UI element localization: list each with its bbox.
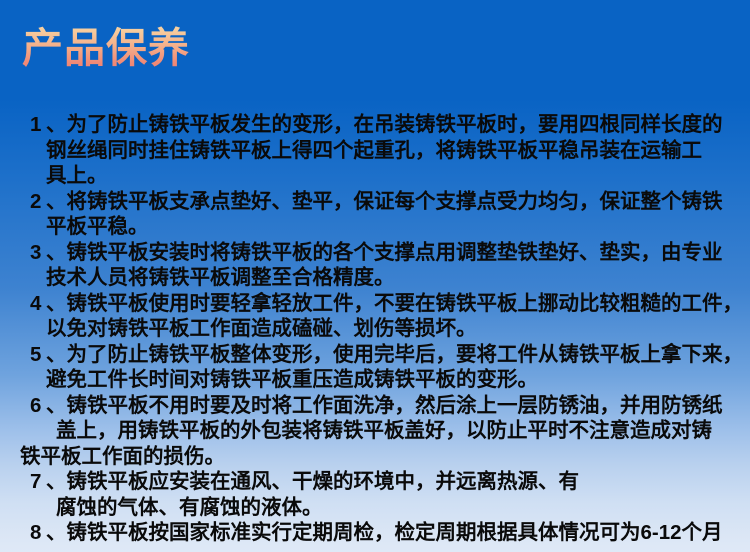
list-item-number: 3 xyxy=(30,240,46,266)
list-item-text: 铸铁平板使用时要轻拿轻放工件，不要在铸铁平板上挪动比较粗糙的工件， xyxy=(67,292,744,315)
list-item: 5、为了防止铸铁平板整体变形，使用完毕后，要将工件从铸铁平板上拿下来，避免工件长… xyxy=(0,342,750,393)
list-item-text: 技术人员将铸铁平板调整至合格精度。 xyxy=(46,266,395,289)
list-item-wrap-line: 平板平稳。 xyxy=(0,214,750,240)
list-item-number: 2 xyxy=(30,189,46,215)
list-item-text: 铸铁平板安装时将铸铁平板的各个支撑点用调整垫铁垫好、垫实，由专业 xyxy=(67,241,723,264)
list-item-wrap-line: 钢丝绳同时挂住铸铁平板上得四个起重孔，将铸铁平板平稳吊装在运输工 xyxy=(0,138,750,164)
list-item-first-line: 5、为了防止铸铁平板整体变形，使用完毕后，要将工件从铸铁平板上拿下来， xyxy=(0,342,750,368)
list-item-number: 5 xyxy=(30,342,46,368)
list-item-wrap-line: 铁平板工作面的损伤。 xyxy=(0,444,750,470)
list-item-number: 7 xyxy=(30,469,46,495)
list-item: 2、将铸铁平板支承点垫好、垫平，保证每个支撑点受力均匀，保证整个铸铁平板平稳。 xyxy=(0,189,750,240)
list-item: 8、铸铁平板按国家标准实行定期周检，检定周期根据具体情况可为6-12个月 xyxy=(0,520,750,546)
list-item-text: 铸铁平板应安装在通风、干燥的环境中，并远离热源、有 xyxy=(67,470,580,493)
list-item-number: 1 xyxy=(30,112,46,138)
list-item-text: 铸铁平板按国家标准实行定期周检，检定周期根据具体情况可为6-12个月 xyxy=(67,521,723,544)
list-item: 7、铸铁平板应安装在通风、干燥的环境中，并远离热源、有腐蚀的气体、有腐蚀的液体。 xyxy=(0,469,750,520)
list-item-number-separator: 、 xyxy=(46,112,67,138)
list-item-wrap-line: 盖上，用铸铁平板的外包装将铸铁平板盖好，以防止平时不注意造成对铸 xyxy=(0,418,750,444)
list-item-text: 铁平板工作面的损伤。 xyxy=(20,445,225,468)
page-title: 产品保养 xyxy=(22,22,190,74)
list-item-number-separator: 、 xyxy=(46,240,67,266)
list-item-wrap-line: 腐蚀的气体、有腐蚀的液体。 xyxy=(0,495,750,521)
list-item-text: 腐蚀的气体、有腐蚀的液体。 xyxy=(56,496,323,519)
list-item-number: 4 xyxy=(30,291,46,317)
list-item-text: 平板平稳。 xyxy=(46,215,149,238)
list-item-number-separator: 、 xyxy=(46,469,67,495)
list-item-number: 8 xyxy=(30,520,46,546)
list-item-text: 将铸铁平板支承点垫好、垫平，保证每个支撑点受力均匀，保证整个铸铁 xyxy=(67,190,723,213)
list-item-wrap-line: 技术人员将铸铁平板调整至合格精度。 xyxy=(0,265,750,291)
list-item-first-line: 6、铸铁平板不用时要及时将工作面洗净，然后涂上一层防锈油，并用防锈纸 xyxy=(0,393,750,419)
list-item-number-separator: 、 xyxy=(46,393,67,419)
list-item-number-separator: 、 xyxy=(46,291,67,317)
list-item-first-line: 7、铸铁平板应安装在通风、干燥的环境中，并远离热源、有 xyxy=(0,469,750,495)
list-item-text: 具上。 xyxy=(46,164,108,187)
list-item-number: 6 xyxy=(30,393,46,419)
list-item-wrap-line: 以免对铸铁平板工作面造成磕碰、划伤等损坏。 xyxy=(0,316,750,342)
list-item-wrap-line: 避免工件长时间对铸铁平板重压造成铸铁平板的变形。 xyxy=(0,367,750,393)
list-item-text: 为了防止铸铁平板发生的变形，在吊装铸铁平板时，要用四根同样长度的 xyxy=(67,113,723,136)
list-item-wrap-line: 具上。 xyxy=(0,163,750,189)
slide-canvas: 产品保养 1、为了防止铸铁平板发生的变形，在吊装铸铁平板时，要用四根同样长度的钢… xyxy=(0,0,750,552)
list-item-text: 避免工件长时间对铸铁平板重压造成铸铁平板的变形。 xyxy=(46,368,538,391)
list-item-first-line: 8、铸铁平板按国家标准实行定期周检，检定周期根据具体情况可为6-12个月 xyxy=(0,520,750,546)
list-item-first-line: 4、铸铁平板使用时要轻拿轻放工件，不要在铸铁平板上挪动比较粗糙的工件， xyxy=(0,291,750,317)
title-area: 产品保养 xyxy=(0,0,750,100)
list-item-number-separator: 、 xyxy=(46,342,67,368)
list-item-first-line: 2、将铸铁平板支承点垫好、垫平，保证每个支撑点受力均匀，保证整个铸铁 xyxy=(0,189,750,215)
list-item-first-line: 3、铸铁平板安装时将铸铁平板的各个支撑点用调整垫铁垫好、垫实，由专业 xyxy=(0,240,750,266)
list-item: 6、铸铁平板不用时要及时将工作面洗净，然后涂上一层防锈油，并用防锈纸盖上，用铸铁… xyxy=(0,393,750,470)
list-item-text: 盖上，用铸铁平板的外包装将铸铁平板盖好，以防止平时不注意造成对铸 xyxy=(56,419,712,442)
maintenance-list: 1、为了防止铸铁平板发生的变形，在吊装铸铁平板时，要用四根同样长度的钢丝绳同时挂… xyxy=(0,112,750,546)
list-item-text: 铸铁平板不用时要及时将工作面洗净，然后涂上一层防锈油，并用防锈纸 xyxy=(67,394,723,417)
list-item-text: 钢丝绳同时挂住铸铁平板上得四个起重孔，将铸铁平板平稳吊装在运输工 xyxy=(46,139,702,162)
list-item-number-separator: 、 xyxy=(46,189,67,215)
list-item: 3、铸铁平板安装时将铸铁平板的各个支撑点用调整垫铁垫好、垫实，由专业技术人员将铸… xyxy=(0,240,750,291)
list-item: 1、为了防止铸铁平板发生的变形，在吊装铸铁平板时，要用四根同样长度的钢丝绳同时挂… xyxy=(0,112,750,189)
list-item: 4、铸铁平板使用时要轻拿轻放工件，不要在铸铁平板上挪动比较粗糙的工件，以免对铸铁… xyxy=(0,291,750,342)
list-item-number-separator: 、 xyxy=(46,520,67,546)
list-item-first-line: 1、为了防止铸铁平板发生的变形，在吊装铸铁平板时，要用四根同样长度的 xyxy=(0,112,750,138)
list-item-text: 以免对铸铁平板工作面造成磕碰、划伤等损坏。 xyxy=(46,317,477,340)
list-item-text: 为了防止铸铁平板整体变形，使用完毕后，要将工件从铸铁平板上拿下来， xyxy=(67,343,744,366)
